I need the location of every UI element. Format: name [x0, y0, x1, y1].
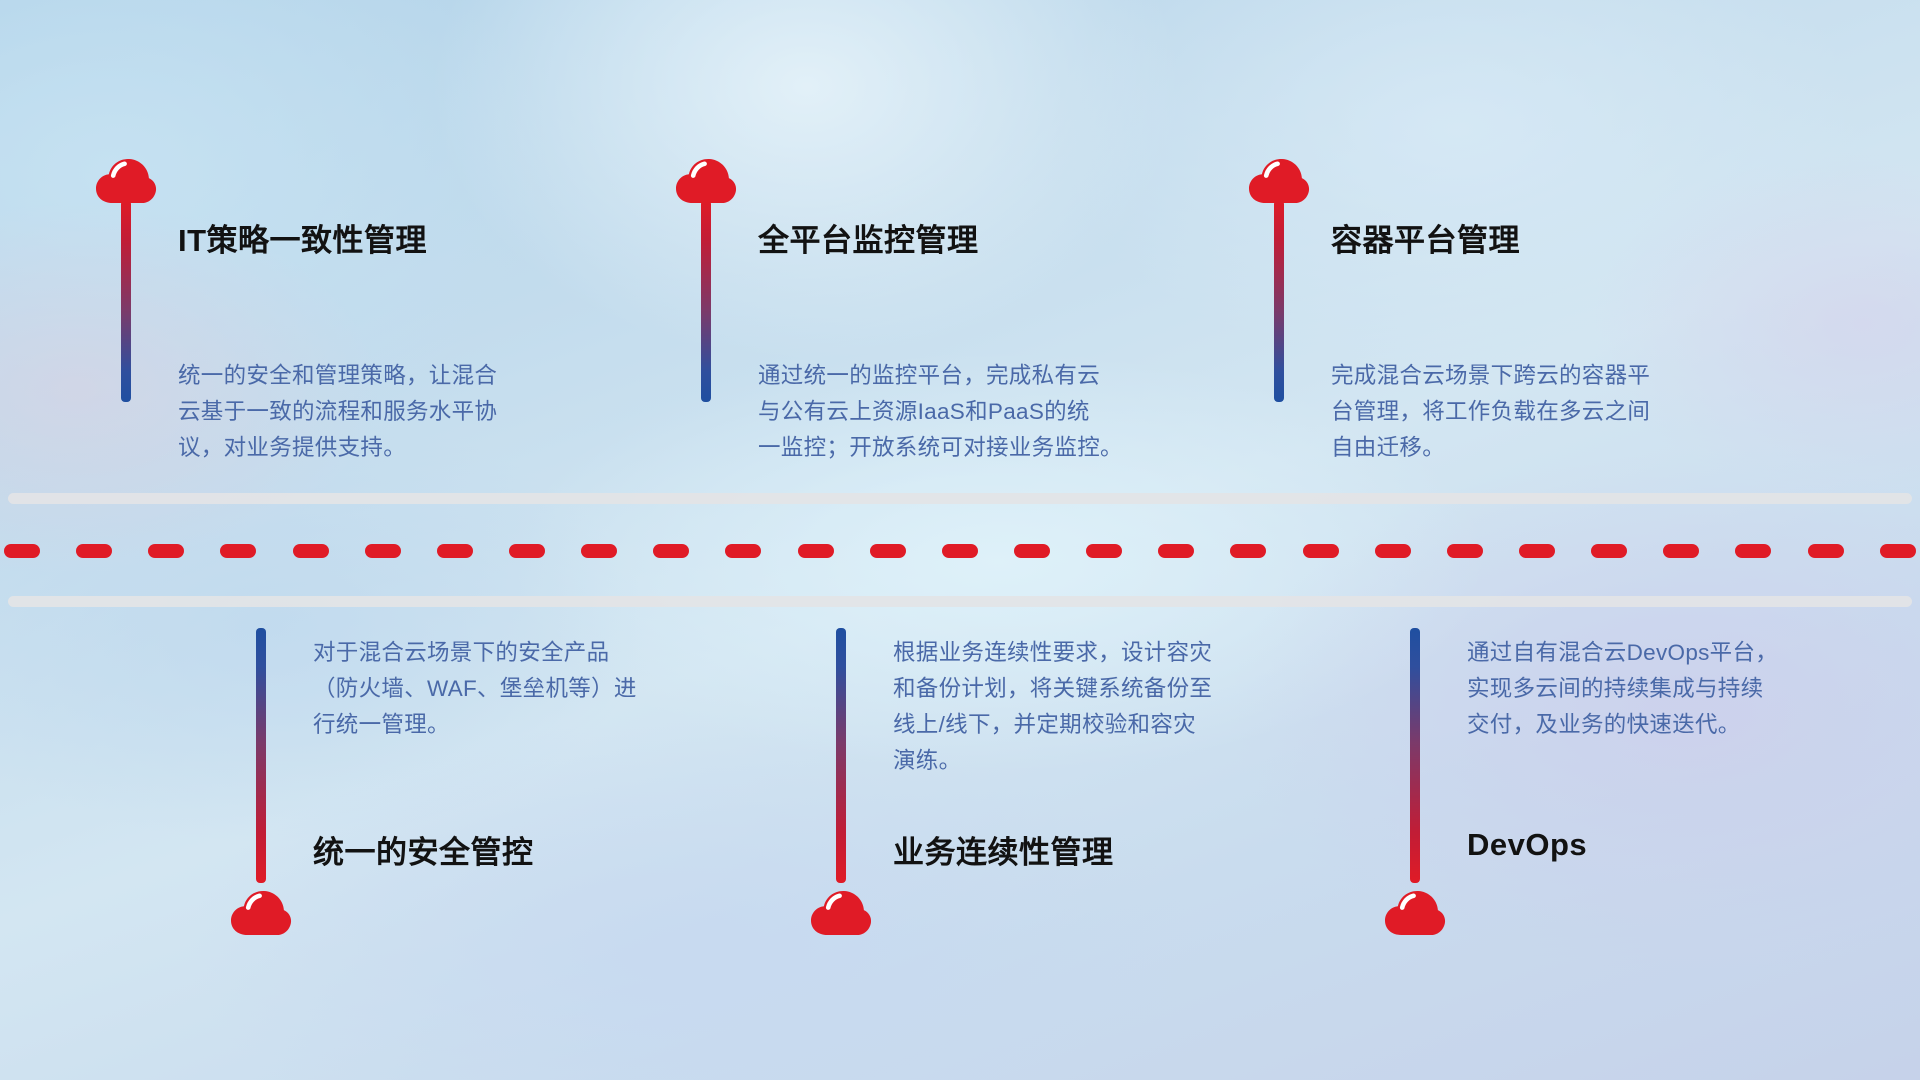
dash-segment — [870, 544, 906, 558]
card-title: 统一的安全管控 — [313, 827, 534, 872]
dash-segment — [293, 544, 329, 558]
dash-segment — [365, 544, 401, 558]
card-body: 通过自有混合云DevOps平台， 实现多云间的持续集成与持续 交付，及业务的快速… — [1467, 635, 1897, 743]
dash-segment — [1086, 544, 1122, 558]
dash-segment — [1591, 544, 1627, 558]
dash-segment — [76, 544, 112, 558]
card-body: 完成混合云场景下跨云的容器平 台管理，将工作负载在多云之间 自由迁移。 — [1331, 358, 1761, 466]
dash-segment — [1303, 544, 1339, 558]
dash-segment — [1519, 544, 1555, 558]
cloud-icon — [230, 890, 292, 936]
card-body: 根据业务连续性要求，设计容灾 和备份计划，将关键系统备份至 线上/线下，并定期校… — [893, 635, 1323, 779]
card-title: 全平台监控管理 — [758, 215, 979, 260]
pin-stem — [121, 200, 131, 402]
dash-segment — [653, 544, 689, 558]
dash-segment — [1375, 544, 1411, 558]
dash-segment — [942, 544, 978, 558]
card-body: 通过统一的监控平台，完成私有云 与公有云上资源IaaS和PaaS的统 一监控；开… — [758, 358, 1188, 466]
cloud-icon — [810, 890, 872, 936]
dash-segment — [148, 544, 184, 558]
divider-dashed-line — [0, 543, 1920, 558]
card-body: 统一的安全和管理策略，让混合 云基于一致的流程和服务水平协 议，对业务提供支持。 — [178, 358, 598, 466]
cloud-icon — [1248, 158, 1310, 204]
dash-segment — [1808, 544, 1844, 558]
cloud-icon — [95, 158, 157, 204]
dash-segment — [220, 544, 256, 558]
cloud-icon — [675, 158, 737, 204]
pin-stem — [701, 200, 711, 402]
dash-segment — [1447, 544, 1483, 558]
pin-stem — [1274, 200, 1284, 402]
pin-stem — [836, 628, 846, 883]
dash-segment — [1230, 544, 1266, 558]
card-title: 业务连续性管理 — [893, 827, 1114, 872]
card-title: DevOps — [1467, 827, 1587, 863]
cloud-icon — [1384, 890, 1446, 936]
pin-stem — [256, 628, 266, 883]
dash-segment — [725, 544, 761, 558]
divider-bar-top — [8, 493, 1912, 504]
card-title: IT策略一致性管理 — [178, 215, 427, 260]
dash-segment — [1014, 544, 1050, 558]
dash-segment — [581, 544, 617, 558]
dash-segment — [798, 544, 834, 558]
divider-bar-bottom — [8, 596, 1912, 607]
dash-segment — [509, 544, 545, 558]
card-title: 容器平台管理 — [1331, 215, 1520, 260]
dash-segment — [1735, 544, 1771, 558]
dash-segment — [1663, 544, 1699, 558]
dash-segment — [437, 544, 473, 558]
card-body: 对于混合云场景下的安全产品 （防火墙、WAF、堡垒机等）进 行统一管理。 — [313, 635, 743, 743]
dash-segment — [4, 544, 40, 558]
pin-stem — [1410, 628, 1420, 883]
infographic-canvas: IT策略一致性管理 统一的安全和管理策略，让混合 云基于一致的流程和服务水平协 … — [0, 0, 1920, 1080]
dash-segment — [1158, 544, 1194, 558]
dash-segment — [1880, 544, 1916, 558]
